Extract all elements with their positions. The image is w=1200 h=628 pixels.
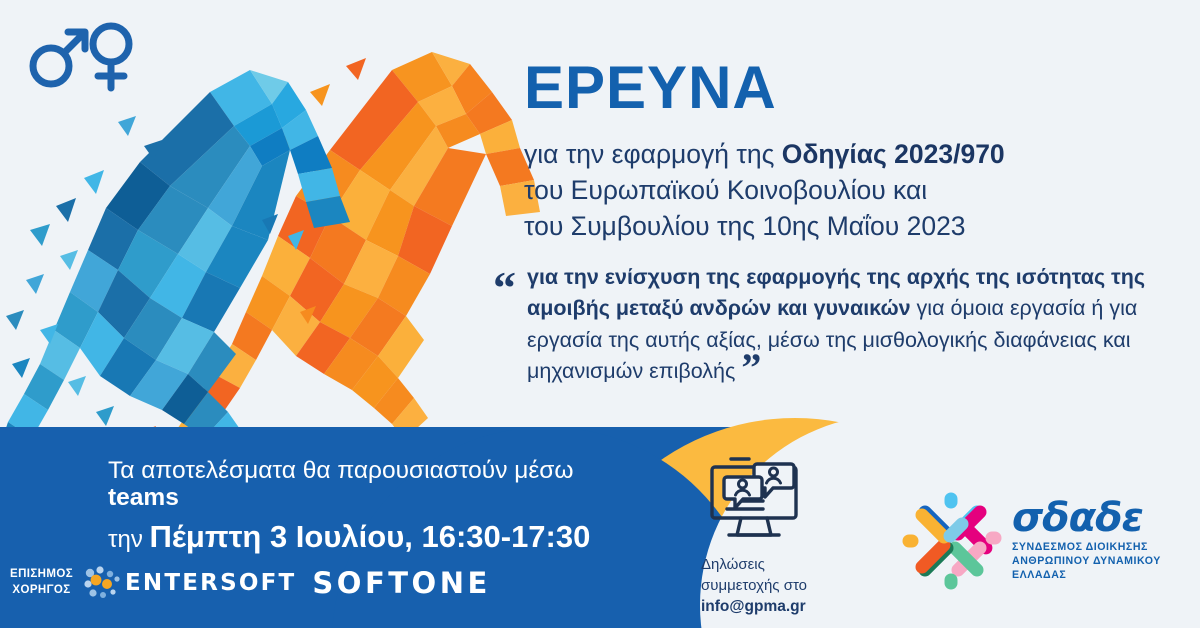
- quote-text: για την ενίσχυση της εφαρμογής της αρχής…: [493, 262, 1153, 388]
- registration-line-2: συμμετοχής στο: [701, 577, 807, 594]
- sdade-sub-line-3: ΕΛΛΑΔΑΣ: [1012, 569, 1161, 583]
- registration-line-1: Δηλώσεις: [701, 556, 765, 573]
- entersoft-dots-icon: [79, 565, 123, 601]
- registration-text: Δηλώσεις συμμετοχής στο info@gpma.gr: [697, 555, 867, 618]
- sdade-text: σδαδε ΣΥΝΔΕΣΜΟΣ ΔΙΟΙΚΗΣΗΣ ΑΝΘΡΩΠΙΝΟΥ ΔΥΝ…: [1012, 499, 1161, 582]
- subtitle-line-1: για την εφαρμογή της Οδηγίας 2023/970: [524, 136, 1164, 172]
- event-line-2-plain: την: [108, 526, 150, 553]
- subtitle-line-3: του Συμβουλίου της 10ης Μαΐου 2023: [524, 208, 1164, 244]
- sponsor-label: ΕΠΙΣΗΜΟΣ ΧΟΡΗΓΟΣ: [10, 567, 73, 598]
- quote-block: “ για την ενίσχυση της εφαρμογής της αρχ…: [493, 262, 1153, 388]
- sdade-sub-line-1: ΣΥΝΔΕΣΜΟΣ ΔΙΟΙΚΗΣΗΣ: [1012, 541, 1161, 555]
- softone-wordmark: SOFTONE: [312, 566, 490, 600]
- entersoft-logo: ENTERSOFT: [79, 565, 296, 601]
- event-line-1-plain: Τα αποτελέσματα θα παρουσιαστούν μέσω: [108, 457, 574, 484]
- sponsor-label-line-1: ΕΠΙΣΗΜΟΣ: [10, 567, 73, 583]
- entersoft-wordmark: ENTERSOFT: [125, 570, 296, 596]
- sdade-wordmark: σδαδε: [1012, 499, 1161, 537]
- event-line-2: την Πέμπτη 3 Ιουλίου, 16:30-17:30: [108, 520, 628, 554]
- page-title: ΕΡΕΥΝΑ: [524, 58, 1164, 118]
- runners-illustration: [0, 30, 540, 480]
- subtitle-line-2: του Ευρωπαϊκού Κοινοβουλίου και: [524, 172, 1164, 208]
- sponsor-label-line-2: ΧΟΡΗΓΟΣ: [10, 583, 73, 599]
- subtitle-bold-directive: Οδηγίας 2023/970: [782, 139, 1005, 169]
- registration-email[interactable]: info@gpma.gr: [701, 598, 806, 615]
- registration-block: Δηλώσεις συμμετοχής στο info@gpma.gr: [697, 455, 867, 618]
- headline-block: ΕΡΕΥΝΑ για την εφαρμογή της Οδηγίας 2023…: [524, 58, 1164, 244]
- poster-canvas: ΕΡΕΥΝΑ για την εφαρμογή της Οδηγίας 2023…: [0, 0, 1200, 628]
- sdade-sub-line-2: ΑΝΘΡΩΠΙΝΟΥ ΔΥΝΑΜΙΚΟΥ: [1012, 555, 1161, 569]
- sdade-pinwheel-logo-icon: [900, 490, 1002, 592]
- event-details-block: Τα αποτελέσματα θα παρουσιαστούν μέσω te…: [108, 458, 628, 554]
- sdade-logo: σδαδε ΣΥΝΔΕΣΜΟΣ ΔΙΟΙΚΗΣΗΣ ΑΝΘΡΩΠΙΝΟΥ ΔΥΝ…: [900, 486, 1170, 596]
- video-meeting-monitor-icon: [701, 455, 807, 547]
- event-datetime: Πέμπτη 3 Ιουλίου, 16:30-17:30: [150, 519, 591, 554]
- sponsors-block: ΕΠΙΣΗΜΟΣ ΧΟΡΗΓΟΣ ENTERSOFT SOFTONE: [10, 558, 430, 608]
- sdade-subtitle: ΣΥΝΔΕΣΜΟΣ ΔΙΟΙΚΗΣΗΣ ΑΝΘΡΩΠΙΝΟΥ ΔΥΝΑΜΙΚΟΥ…: [1012, 541, 1161, 582]
- subtitle-plain-1: για την εφαρμογή της: [524, 139, 782, 169]
- event-line-1-bold-teams: teams: [108, 484, 179, 511]
- event-line-1: Τα αποτελέσματα θα παρουσιαστούν μέσω te…: [108, 458, 628, 512]
